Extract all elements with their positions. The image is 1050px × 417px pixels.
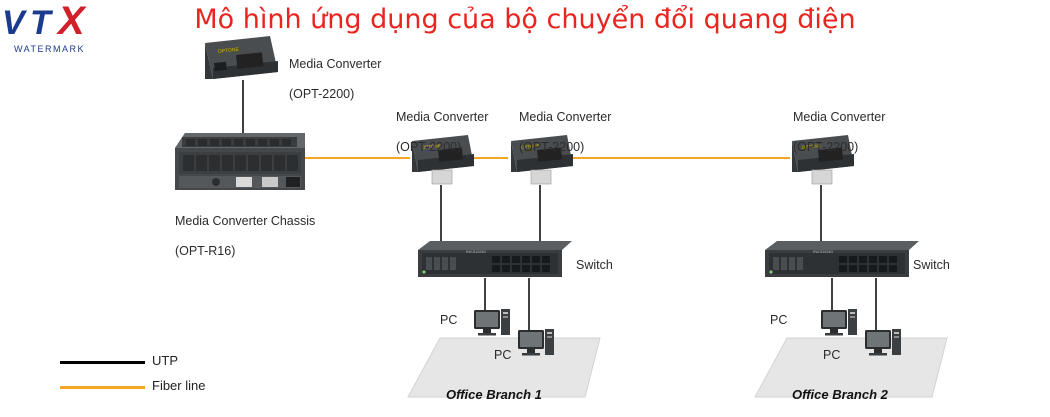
label-line-1: Media Converter Chassis (175, 214, 315, 228)
label-media-converter-branch1-a: Media Converter (OPT-2200) (389, 95, 488, 155)
label-switch-2: Switch (913, 258, 950, 273)
label-line-2: (OPT-2200) (396, 140, 461, 154)
svg-text:KW-S1024G: KW-S1024G (813, 250, 833, 254)
legend-utp-label: UTP (152, 353, 178, 368)
pc-3 (821, 309, 857, 336)
label-pc-1: PC (440, 313, 457, 328)
label-line-1: Media Converter (396, 110, 488, 124)
media-converter-top: OPTONE (205, 36, 278, 79)
label-media-converter-chassis: Media Converter Chassis (OPT-R16) (168, 199, 315, 259)
label-media-converter-branch2: Media Converter (OPT-2200) (786, 95, 885, 155)
switch-2: KW-S1024G (765, 241, 919, 277)
svg-text:KW-S1024G: KW-S1024G (466, 250, 486, 254)
legend-fiber-line (60, 386, 145, 389)
watermark-vtx: V T X WATERMARK (0, 0, 120, 64)
label-pc-2: PC (494, 348, 511, 363)
media-converter-chassis (175, 133, 305, 190)
label-line-1: Media Converter (289, 57, 381, 71)
label-line-2: (OPT-2200) (519, 140, 584, 154)
label-pc-4: PC (823, 348, 840, 363)
label-line-2: (OPT-2200) (793, 140, 858, 154)
label-media-converter-branch1-b: Media Converter (OPT-2200) (512, 95, 611, 155)
label-office-branch-1: Office Branch 1 (446, 387, 542, 402)
svg-text:V: V (2, 4, 28, 42)
svg-text:T: T (30, 4, 54, 42)
pc-1 (474, 309, 510, 336)
label-line-2: (OPT-2200) (289, 87, 354, 101)
label-line-2: (OPT-R16) (175, 244, 235, 258)
label-pc-3: PC (770, 313, 787, 328)
svg-text:WATERMARK: WATERMARK (14, 44, 85, 54)
legend-fiber-label: Fiber line (152, 378, 205, 393)
label-switch-1: Switch (576, 258, 613, 273)
label-line-1: Media Converter (793, 110, 885, 124)
label-media-converter-top: Media Converter (OPT-2200) (282, 42, 381, 102)
label-office-branch-2: Office Branch 2 (792, 387, 888, 402)
label-line-1: Media Converter (519, 110, 611, 124)
svg-text:X: X (56, 0, 87, 43)
legend-utp-line (60, 361, 145, 364)
switch-1: KW-S1024G (418, 241, 572, 277)
